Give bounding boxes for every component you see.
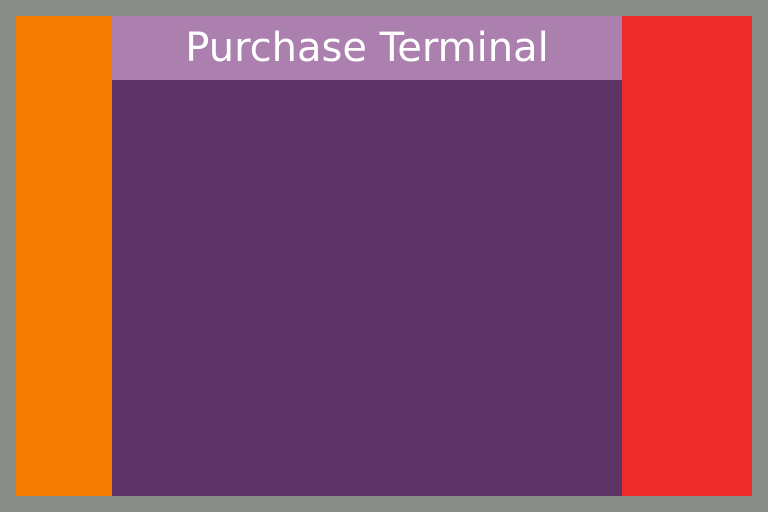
purchase-terminal-panel: Purchase Terminal [112, 16, 622, 496]
left-accent-panel [16, 16, 112, 496]
purchase-terminal-header: Purchase Terminal [112, 16, 622, 80]
panel-row: Purchase Terminal [16, 16, 752, 496]
app-root: Purchase Terminal [0, 0, 768, 512]
right-accent-panel [622, 16, 752, 496]
purchase-terminal-body [112, 80, 622, 496]
page-title: Purchase Terminal [185, 28, 548, 68]
